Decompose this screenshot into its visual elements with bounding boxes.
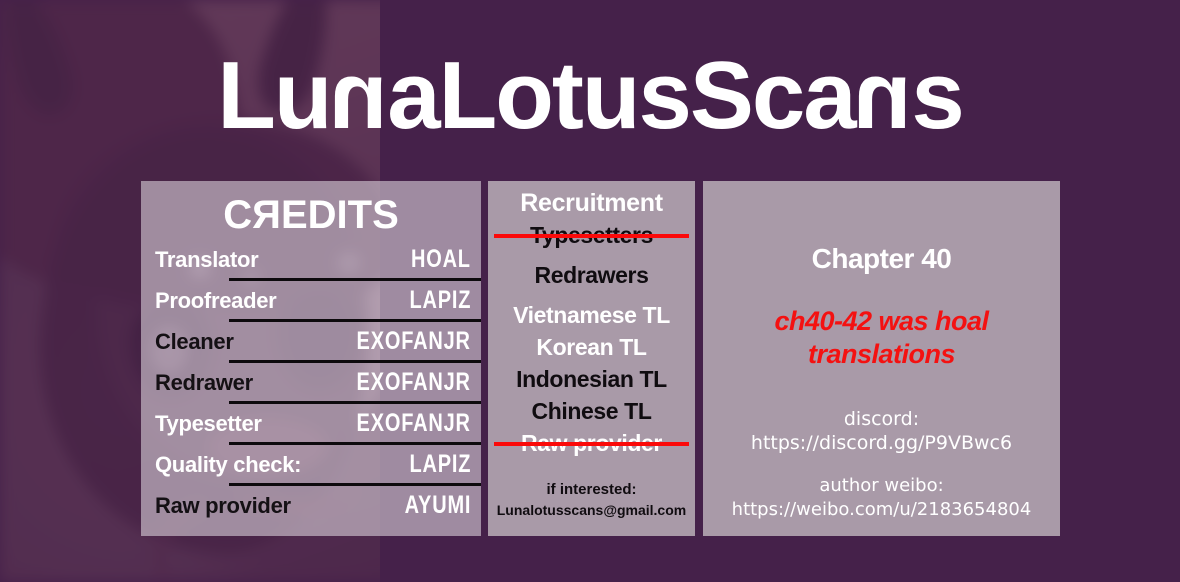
credits-name-value: HOAL [411,245,471,274]
group-title-flipped-n-1: n [331,41,388,151]
credits-heading-pre: C [223,193,252,237]
group-title-part3: s [911,42,962,149]
recruitment-item-korean-tl: Korean TL [488,332,695,362]
credits-name-value: LAPIZ [409,286,471,315]
credits-name-value: EXOFANJR [357,409,471,438]
recruitment-item-raw-provider: Raw provider [488,428,695,458]
credits-row: Quality check: LAPIZ [141,444,481,485]
discord-block: discord: https://discord.gg/P9VBwc6 [703,407,1060,455]
credits-row: Cleaner EXOFANJR [141,321,481,362]
credits-row: Typesetter EXOFANJR [141,403,481,444]
recruitment-item-vietnamese-tl: Vietnamese TL [488,300,695,330]
recruitment-item-chinese-tl: Chinese TL [488,396,695,426]
credits-heading-post: EDITS [281,193,399,237]
credits-name-value: EXOFANJR [357,327,471,356]
credits-role-label: Translator [155,247,258,273]
recruitment-item-indonesian-tl: Indonesian TL [488,364,695,394]
chapter-note-line2: translations [703,338,1060,371]
discord-label: discord: [703,407,1060,431]
group-title-flipped-n-2: n [855,41,912,151]
credits-panel: CREDITS Translator HOAL Proofreader LAPI… [141,181,481,536]
credits-row: Proofreader LAPIZ [141,280,481,321]
recruitment-item-redrawers: Redrawers [488,260,695,290]
group-title-part2: aLotusSca [387,42,854,149]
recruitment-panel: Recruitment Typesetters Redrawers Vietna… [488,181,695,536]
credits-name-value: EXOFANJR [357,368,471,397]
weibo-link[interactable]: https://weibo.com/u/2183654804 [703,498,1060,522]
chapter-panel: Chapter 40 ch40-42 was hoal translations… [703,181,1060,536]
credits-row: Redrawer EXOFANJR [141,362,481,403]
chapter-heading: Chapter 40 [703,243,1060,275]
weibo-block: author weibo: https://weibo.com/u/218365… [703,474,1060,522]
credits-role-label: Redrawer [155,370,253,396]
credits-role-label: Quality check: [155,452,301,478]
credits-row: Raw provider AYUMI [141,485,481,526]
chapter-note-line1: ch40-42 was hoal [703,305,1060,338]
recruitment-footer-label: if interested: [488,480,695,500]
credits-role-label: Proofreader [155,288,276,314]
credits-name-value: AYUMI [404,491,471,520]
weibo-label: author weibo: [703,474,1060,498]
credits-role-label: Typesetter [155,411,262,437]
credits-role-label: Cleaner [155,329,234,355]
discord-link[interactable]: https://discord.gg/P9VBwc6 [703,431,1060,455]
credits-heading-flipped-r: R [252,191,281,239]
recruitment-item-typesetters: Typesetters [488,220,695,250]
credits-name-value: LAPIZ [409,450,471,479]
credits-heading: CREDITS [141,191,481,239]
chapter-note: ch40-42 was hoal translations [703,305,1060,371]
credits-role-label: Raw provider [155,493,291,519]
group-title: LunaLotusScans [0,41,1180,151]
recruitment-footer: if interested: Lunalotusscans@gmail.com [488,480,695,520]
credits-row: Translator HOAL [141,239,481,280]
group-title-part1: Lu [217,42,330,149]
recruitment-heading: Recruitment [488,188,695,218]
recruitment-email[interactable]: Lunalotusscans@gmail.com [488,500,695,520]
